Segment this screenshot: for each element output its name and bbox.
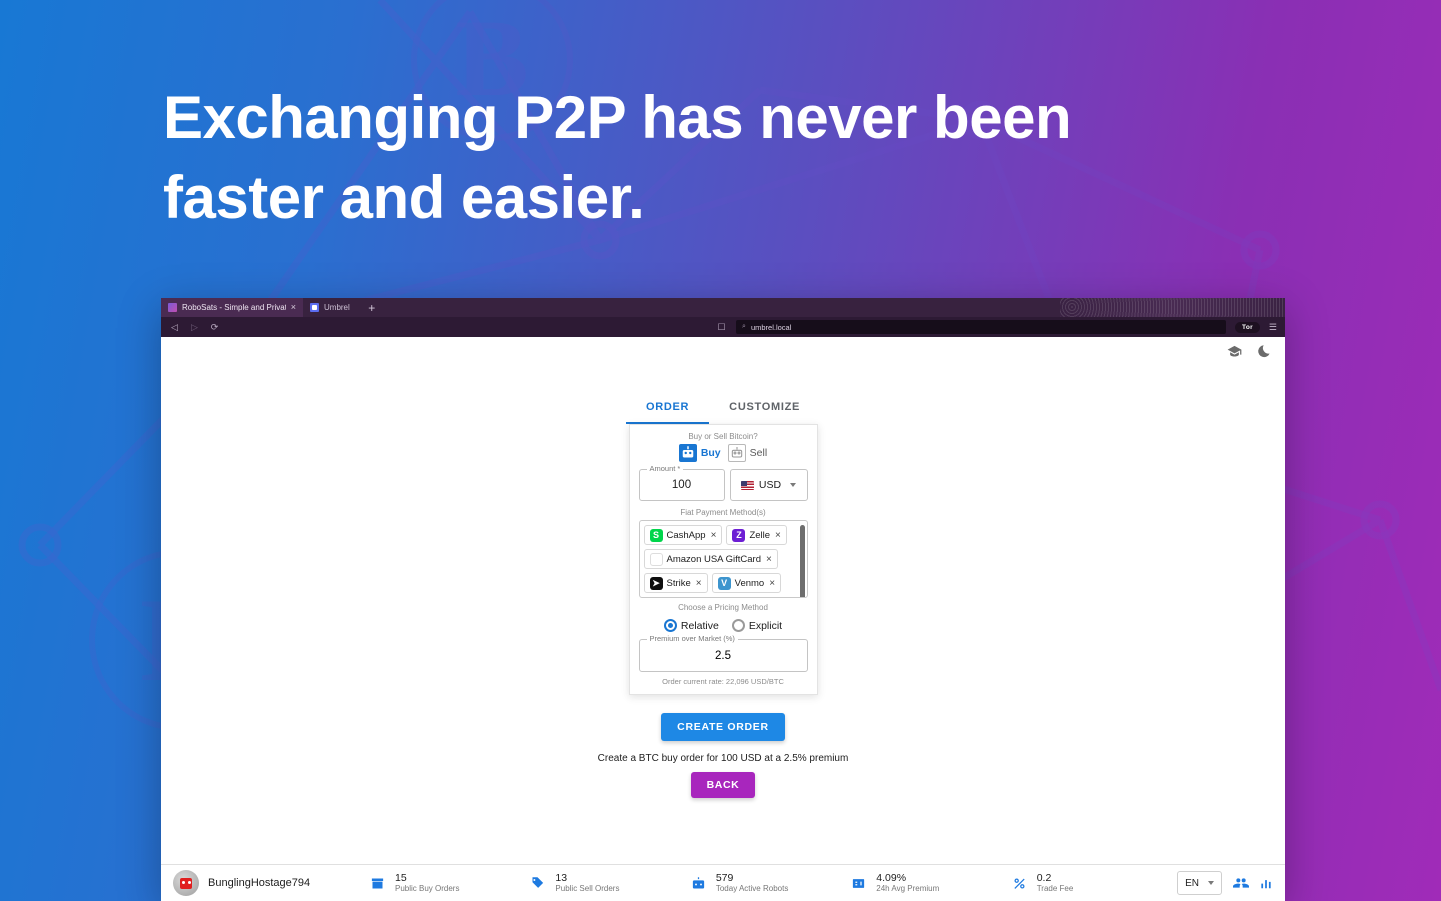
currency-select[interactable]: USD xyxy=(730,469,808,501)
username-label: BunglingHostage794 xyxy=(208,877,310,889)
radio-relative[interactable]: Relative xyxy=(664,619,719,632)
currency-value: USD xyxy=(759,479,781,491)
buy-robot-icon xyxy=(679,444,697,462)
hero-line-1: Exchanging P2P has never been xyxy=(163,84,1071,151)
robosats-favicon-icon xyxy=(168,303,177,312)
browser-tab-title: RoboSats - Simple and Private Bit xyxy=(182,303,286,312)
buy-label: Buy xyxy=(701,447,721,459)
create-order-button[interactable]: CREATE ORDER xyxy=(661,713,785,741)
amazon-icon: a xyxy=(650,553,663,566)
stat-label: Trade Fee xyxy=(1037,884,1074,894)
premium-field[interactable]: Premium over Market (%) 2.5 xyxy=(639,639,808,672)
remove-icon[interactable]: × xyxy=(775,530,781,541)
stat-trade-fee: 0.2 Trade Fee xyxy=(1011,872,1171,894)
browser-navbar: ◁ ▷ ⟳ ☐ ⌕ umbrel.local Tor ☰ xyxy=(161,317,1285,337)
sell-orders-icon xyxy=(529,875,546,892)
stat-value: 13 xyxy=(555,872,619,884)
zelle-icon: Z xyxy=(732,529,745,542)
stats-icon[interactable] xyxy=(1259,876,1273,890)
tab-customize[interactable]: CUSTOMIZE xyxy=(709,393,820,424)
stat-public-buy-orders: 15 Public Buy Orders xyxy=(369,872,529,894)
radio-explicit[interactable]: Explicit xyxy=(732,619,782,632)
robot-avatar xyxy=(173,870,199,896)
forward-icon[interactable]: ▷ xyxy=(189,322,200,333)
stat-value: 4.09% xyxy=(876,872,939,884)
cashapp-icon: S xyxy=(650,529,663,542)
payment-chip-amazon[interactable]: a Amazon USA GiftCard × xyxy=(644,549,778,569)
remove-icon[interactable]: × xyxy=(711,530,717,541)
reload-icon[interactable]: ⟳ xyxy=(209,322,220,333)
web-page-content: ORDER CUSTOMIZE Buy or Sell Bitcoin? Buy xyxy=(161,337,1285,901)
stat-public-sell-orders: 13 Public Sell Orders xyxy=(529,872,689,894)
payment-chip-venmo[interactable]: V Venmo × xyxy=(712,573,781,593)
hero-headline: Exchanging P2P has never been faster and… xyxy=(163,78,1163,238)
sell-option[interactable]: Sell xyxy=(728,444,768,462)
browser-tab-umbrel[interactable]: Umbrel xyxy=(303,298,357,317)
amount-currency-row: Amount * 100 USD xyxy=(639,469,808,501)
stat-24h-avg-premium: 4.09% 24h Avg Premium xyxy=(850,872,1010,894)
umbrel-favicon-icon xyxy=(310,303,319,312)
user-profile[interactable]: BunglingHostage794 xyxy=(173,870,369,896)
pricing-method-radios: Relative Explicit xyxy=(664,619,782,632)
bookmark-icon[interactable]: ☐ xyxy=(716,322,727,333)
tab-order[interactable]: ORDER xyxy=(626,393,709,424)
menu-icon[interactable]: ☰ xyxy=(1269,322,1277,333)
buy-option[interactable]: Buy xyxy=(679,444,721,462)
payment-methods-hint: Fiat Payment Method(s) xyxy=(680,508,765,517)
browser-tab-robosats[interactable]: RoboSats - Simple and Private Bit × xyxy=(161,298,303,317)
maker-tabs: ORDER CUSTOMIZE xyxy=(626,393,820,424)
status-bar: BunglingHostage794 15 Public Buy Orders … xyxy=(161,864,1285,901)
search-icon: ⌕ xyxy=(742,323,746,331)
payment-methods-box[interactable]: S CashApp × Z Zelle × a Amazon USA GiftC… xyxy=(639,520,808,598)
remove-icon[interactable]: × xyxy=(766,554,772,565)
tor-badge[interactable]: Tor xyxy=(1235,322,1260,333)
robosats-app: ORDER CUSTOMIZE Buy or Sell Bitcoin? Buy xyxy=(161,337,1285,798)
payment-chip-label: CashApp xyxy=(667,530,706,541)
payment-chip-strike[interactable]: ➤ Strike × xyxy=(644,573,708,593)
stat-value: 0.2 xyxy=(1037,872,1074,884)
buy-sell-selector: Buy Sell xyxy=(679,444,767,462)
radio-relative-label: Relative xyxy=(681,620,719,632)
amount-field[interactable]: Amount * 100 xyxy=(639,469,725,501)
language-selector[interactable]: EN xyxy=(1177,871,1222,895)
stat-label: Today Active Robots xyxy=(716,884,788,894)
payment-chip-label: Venmo xyxy=(735,578,765,589)
back-icon[interactable]: ◁ xyxy=(169,322,180,333)
stat-label: Public Sell Orders xyxy=(555,884,619,894)
order-form-card: Buy or Sell Bitcoin? Buy Sell xyxy=(629,424,818,695)
status-end-icons xyxy=(1233,875,1273,891)
address-bar-url: umbrel.local xyxy=(751,323,791,332)
buy-sell-hint: Buy or Sell Bitcoin? xyxy=(688,432,757,441)
sell-robot-icon xyxy=(728,444,746,462)
stat-label: 24h Avg Premium xyxy=(876,884,939,894)
premium-label: Premium over Market (%) xyxy=(647,634,738,643)
back-button[interactable]: BACK xyxy=(691,772,756,798)
new-tab-button[interactable]: + xyxy=(357,298,387,317)
stat-label: Public Buy Orders xyxy=(395,884,459,894)
remove-icon[interactable]: × xyxy=(696,578,702,589)
buy-orders-icon xyxy=(369,875,386,892)
payment-chip-cashapp[interactable]: S CashApp × xyxy=(644,525,723,545)
radio-dot-icon xyxy=(664,619,677,632)
payment-chip-label: Strike xyxy=(667,578,691,589)
amount-label: Amount * xyxy=(647,464,684,473)
premium-value: 2.5 xyxy=(715,650,731,662)
payment-methods-scrollbar[interactable] xyxy=(800,525,805,598)
radio-explicit-label: Explicit xyxy=(749,620,782,632)
language-value: EN xyxy=(1185,878,1199,889)
money-icon xyxy=(850,875,867,892)
chevron-down-icon xyxy=(790,483,796,487)
us-flag-icon xyxy=(741,481,754,490)
strike-icon: ➤ xyxy=(650,577,663,590)
browser-tabstrip: RoboSats - Simple and Private Bit × Umbr… xyxy=(161,298,1285,317)
pricing-method-hint: Choose a Pricing Method xyxy=(678,603,768,612)
graduation-cap-icon[interactable] xyxy=(1226,344,1243,359)
radio-dot-icon xyxy=(732,619,745,632)
hero-line-2: faster and easier. xyxy=(163,158,1163,238)
close-icon[interactable]: × xyxy=(291,303,296,312)
window-controls-area xyxy=(1060,298,1285,317)
amount-value: 100 xyxy=(672,479,691,491)
payment-chip-label: Zelle xyxy=(749,530,770,541)
robot-icon xyxy=(690,875,707,892)
page-top-icons xyxy=(1226,344,1271,359)
percent-icon xyxy=(1011,875,1028,892)
stat-today-active-robots: 579 Today Active Robots xyxy=(690,872,850,894)
payment-chip-zelle[interactable]: Z Zelle × xyxy=(726,525,786,545)
chevron-down-icon xyxy=(1208,881,1214,885)
sell-label: Sell xyxy=(750,447,768,459)
order-summary-text: Create a BTC buy order for 100 USD at a … xyxy=(598,753,849,764)
people-icon[interactable] xyxy=(1233,875,1249,891)
stat-value: 15 xyxy=(395,872,459,884)
address-bar[interactable]: ⌕ umbrel.local xyxy=(736,320,1226,334)
remove-icon[interactable]: × xyxy=(769,578,775,589)
moon-icon[interactable] xyxy=(1256,344,1271,359)
browser-window: RoboSats - Simple and Private Bit × Umbr… xyxy=(161,298,1285,901)
payment-chip-label: Amazon USA GiftCard xyxy=(667,554,762,565)
browser-tab-title: Umbrel xyxy=(324,303,350,312)
venmo-icon: V xyxy=(718,577,731,590)
order-current-rate: Order current rate: 22,096 USD/BTC xyxy=(662,677,784,686)
stat-value: 579 xyxy=(716,872,788,884)
